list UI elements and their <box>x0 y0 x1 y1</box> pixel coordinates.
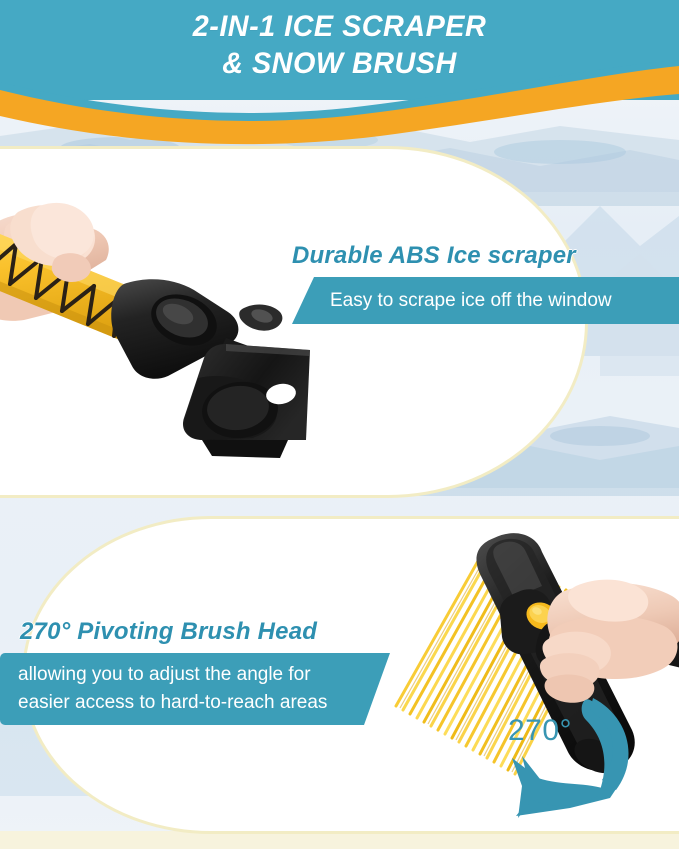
feature-heading-ice-scraper: Durable ABS Ice scraper <box>292 242 679 270</box>
feature-banner-line-2: easier access to hard-to-reach areas <box>18 689 390 717</box>
feature-heading-brush-head: 270° Pivoting Brush Head <box>20 618 390 646</box>
header-wave-divider <box>0 60 679 145</box>
ice-scraper-product-image <box>0 178 368 478</box>
feature-text-brush-head: 270° Pivoting Brush Head allowing you to… <box>0 618 390 725</box>
feature-banner-ice-scraper: Easy to scrape ice off the window <box>292 277 679 324</box>
rotation-annotation: 270° <box>498 694 658 824</box>
rotation-degree-label: 270° <box>508 714 572 748</box>
feature-text-ice-scraper: Durable ABS Ice scraper Easy to scrape i… <box>292 242 679 324</box>
feature-banner-line-1: allowing you to adjust the angle for <box>18 661 390 689</box>
product-infographic: 2-IN-1 ICE SCRAPER & SNOW BRUSH Durable … <box>0 0 679 849</box>
feature-banner-brush-head: allowing you to adjust the angle for eas… <box>0 653 390 725</box>
feature-banner-line: Easy to scrape ice off the window <box>330 288 612 314</box>
